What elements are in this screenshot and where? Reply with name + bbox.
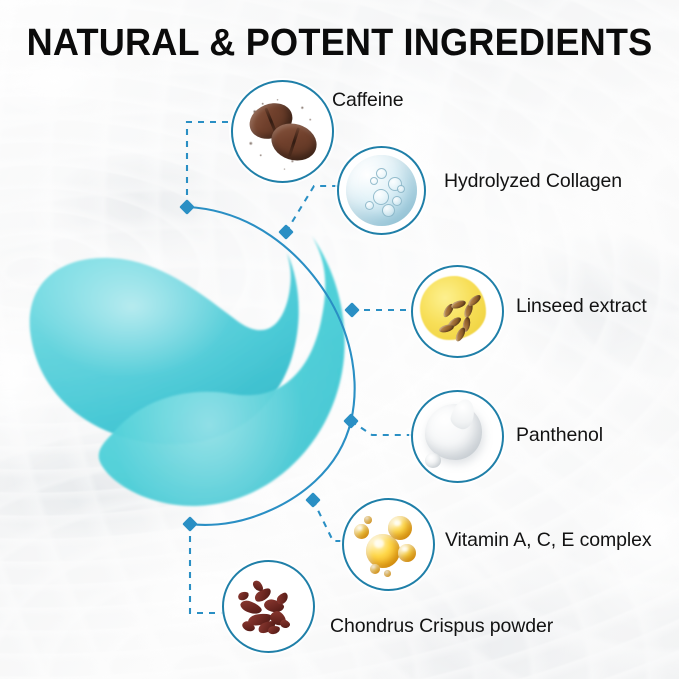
ingredient-circle-chondrus-crispus[interactable] (222, 560, 315, 653)
ingredient-circle-hydrolyzed-collagen[interactable] (337, 146, 426, 235)
ingredient-label-vitamin-complex: Vitamin A, C, E complex (445, 529, 652, 552)
node-hydrolyzed-collagen (278, 224, 294, 240)
branch-chondrus-crispus (190, 524, 224, 613)
node-vitamin-complex (305, 492, 321, 508)
ingredient-label-hydrolyzed-collagen: Hydrolyzed Collagen (444, 170, 622, 193)
connector-arc (187, 207, 355, 525)
ingredients-infographic: NATURAL & POTENT INGREDIENTS (0, 0, 679, 679)
node-linseed-extract (344, 302, 360, 318)
ingredient-label-panthenol: Panthenol (516, 424, 603, 447)
ingredient-circle-vitamin-complex[interactable] (342, 498, 435, 591)
branch-vitamin-complex (313, 500, 344, 541)
ingredient-label-caffeine: Caffeine (332, 89, 403, 112)
branch-panthenol (351, 421, 412, 435)
ingredient-label-chondrus-crispus: Chondrus Crispus powder (330, 615, 553, 638)
gel-droplet-icon (339, 148, 424, 233)
ingredient-circle-linseed-extract[interactable] (411, 265, 504, 358)
oil-bubbles-icon (344, 500, 433, 589)
connector-nodes (179, 199, 360, 532)
node-caffeine (179, 199, 195, 215)
ingredient-label-linseed-extract: Linseed extract (516, 295, 647, 318)
node-panthenol (343, 413, 359, 429)
node-chondrus-crispus (182, 516, 198, 532)
cream-dollop-icon (413, 392, 502, 481)
branch-hydrolyzed-collagen (286, 186, 344, 232)
ingredient-circle-caffeine[interactable] (231, 80, 334, 183)
flax-seeds-oil-icon (413, 267, 502, 356)
coffee-beans-icon (233, 82, 332, 181)
ingredient-circle-panthenol[interactable] (411, 390, 504, 483)
seaweed-flakes-icon (224, 562, 313, 651)
